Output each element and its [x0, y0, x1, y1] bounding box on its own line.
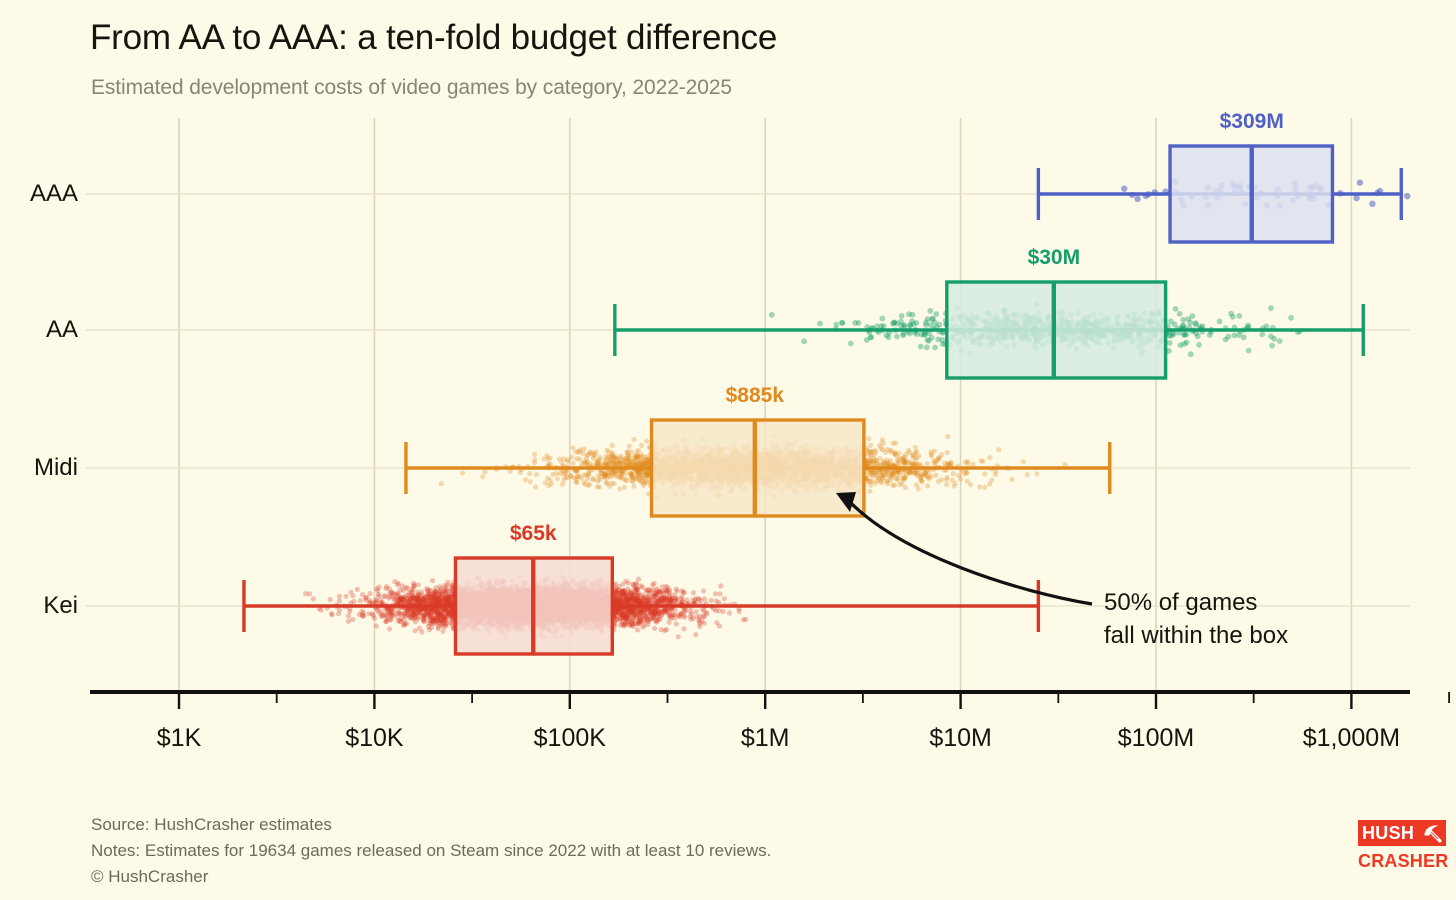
median-label-aa: $30M: [1028, 246, 1081, 270]
footer-notes: Notes: Estimates for 19634 games release…: [91, 838, 771, 864]
footer: Source: HushCrasher estimates Notes: Est…: [91, 812, 771, 889]
annotation-line-1: 50% of games: [1104, 586, 1288, 619]
x-tick-label: $10M: [929, 724, 992, 753]
pickaxe-icon: [1421, 822, 1443, 849]
x-tick-label: $1,000M: [1303, 724, 1400, 753]
median-label-kei: $65k: [510, 522, 557, 546]
category-label-midi: Midi: [0, 454, 78, 482]
category-label-aaa: AAA: [0, 180, 78, 208]
logo-top-bar: HUSH: [1358, 820, 1446, 846]
category-label-kei: Kei: [0, 592, 78, 620]
x-tick-label: $1K: [157, 724, 201, 753]
category-label-aa: AA: [0, 316, 78, 344]
box-aaa: [1038, 146, 1401, 242]
boxplot-chart: [0, 0, 1456, 900]
annotation-text: 50% of games fall within the box: [1104, 586, 1288, 652]
box-kei: [244, 558, 1038, 654]
box-aa: [615, 282, 1363, 378]
annotation-arrow: [836, 492, 1092, 604]
median-label-midi: $885k: [726, 384, 784, 408]
x-tick-label: $10K: [345, 724, 403, 753]
median-label-aaa: $309M: [1220, 110, 1284, 134]
x-tick-label: $100M: [1118, 724, 1194, 753]
footer-copyright: © HushCrasher: [91, 864, 771, 890]
footer-source: Source: HushCrasher estimates: [91, 812, 771, 838]
hushcrasher-logo: HUSH CRASHER: [1358, 820, 1446, 876]
x-tick-label: $1M: [741, 724, 790, 753]
logo-word-hush: HUSH: [1358, 824, 1414, 842]
x-tick-label: $100K: [534, 724, 606, 753]
logo-word-crasher: CRASHER: [1358, 852, 1446, 870]
annotation-line-2: fall within the box: [1104, 619, 1288, 652]
box-midi: [406, 420, 1110, 516]
